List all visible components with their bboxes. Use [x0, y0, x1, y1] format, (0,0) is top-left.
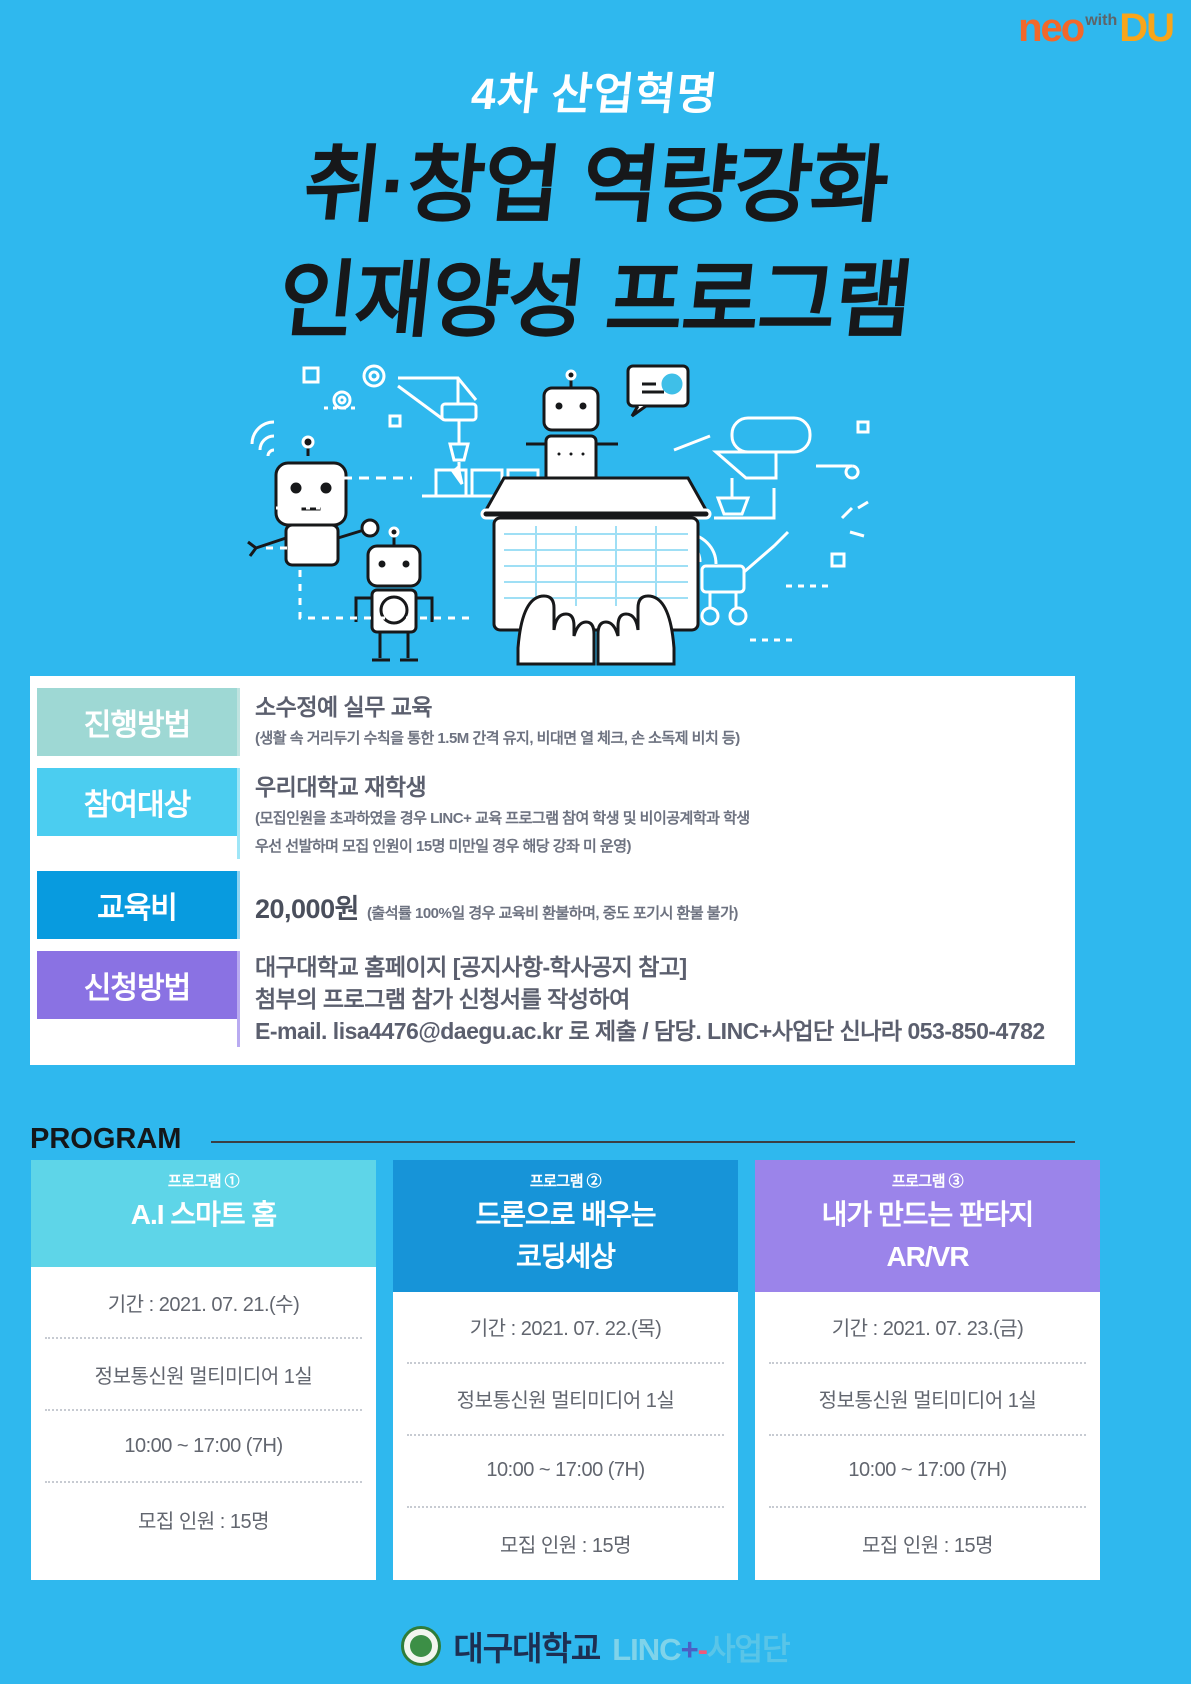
program-card-1-number: 프로그램 ①: [31, 1170, 376, 1191]
program-card-3-capacity: 모집 인원 : 15명: [769, 1508, 1086, 1580]
program-card-2-title-line2: 코딩세상: [393, 1239, 738, 1275]
footer-linc-logo: LINC+-사업단: [612, 1624, 789, 1669]
robot-left-icon: [248, 422, 378, 565]
program-card-3-place: 정보통신원 멀티미디어 1실: [769, 1364, 1086, 1436]
info-value-fee-amount: 20,000원: [255, 887, 359, 926]
info-row-method: 진행방법 소수정예 실무 교육 (생활 속 거리두기 수칙을 통한 1.5M 간…: [30, 688, 1075, 756]
university-seal-icon: [401, 1626, 441, 1666]
info-label-audience: 참여대상: [37, 768, 237, 836]
program-card-2-time: 10:00 ~ 17:00 (7H): [407, 1436, 724, 1508]
program-card-3-number: 프로그램 ③: [755, 1170, 1100, 1191]
program-card-1-capacity: 모집 인원 : 15명: [45, 1483, 362, 1555]
info-label-method: 진행방법: [37, 688, 237, 756]
program-section-title: PROGRAM: [30, 1123, 181, 1156]
info-value-apply-2: 첨부의 프로그램 참가 신청서를 작성하여: [255, 983, 1075, 1015]
program-card-1[interactable]: 프로그램 ① A.I 스마트 홈 기간 : 2021. 07. 21.(수) 정…: [31, 1160, 376, 1580]
brand-neo-text: neo: [1018, 10, 1083, 46]
info-note-method: (생활 속 거리두기 수칙을 통한 1.5M 간격 유지, 비대면 열 체크, …: [255, 727, 1075, 750]
info-note-audience-1: (모집인원을 초과하였을 경우 LINC+ 교육 프로그램 참여 학생 및 비이…: [255, 807, 1075, 830]
robotic-arm-icon: [398, 378, 476, 484]
program-card-3-header: 프로그램 ③ 내가 만드는 판타지 AR/VR: [755, 1160, 1100, 1292]
footer-linc-part-1: LINC: [612, 1632, 680, 1667]
headline-eyebrow: 4차 산업혁명: [469, 58, 722, 122]
info-row-audience: 참여대상 우리대학교 재학생 (모집인원을 초과하였을 경우 LINC+ 교육 …: [30, 768, 1075, 859]
laptop-hands-icon: [482, 478, 710, 664]
info-label-fee: 교육비: [37, 871, 237, 939]
program-card-2[interactable]: 프로그램 ② 드론으로 배우는 코딩세상 기간 : 2021. 07. 22.(…: [393, 1160, 738, 1580]
program-card-1-place: 정보통신원 멀티미디어 1실: [45, 1339, 362, 1411]
program-section-header: PROGRAM: [30, 1123, 1075, 1156]
program-card-3-period: 기간 : 2021. 07. 23.(금): [769, 1292, 1086, 1364]
footer-logos: 대구대학교 LINC+-사업단: [0, 1622, 1191, 1670]
info-label-apply: 신청방법: [37, 951, 237, 1019]
program-card-2-period: 기간 : 2021. 07. 22.(목): [407, 1292, 724, 1364]
program-card-3-title: 내가 만드는 판타지: [755, 1197, 1100, 1233]
info-note-fee: (출석률 100%일 경우 교육비 환불하며, 중도 포기시 환불 불가): [367, 902, 738, 923]
program-card-3-time: 10:00 ~ 17:00 (7H): [769, 1436, 1086, 1508]
info-value-apply-3: E-mail. lisa4476@daegu.ac.kr 로 제출 / 담당. …: [255, 1015, 1075, 1047]
info-row-fee: 교육비 20,000원 (출석률 100%일 경우 교육비 환불하며, 중도 포…: [30, 871, 1075, 939]
info-value-method: 소수정예 실무 교육: [255, 688, 1075, 722]
info-value-apply-1: 대구대학교 홈페이지 [공지사항-학사공지 참고]: [255, 951, 1075, 983]
program-header-divider: [211, 1141, 1075, 1143]
brand-logo: neo with DU: [1018, 10, 1173, 46]
program-card-2-place: 정보통신원 멀티미디어 1실: [407, 1364, 724, 1436]
program-card-list: 프로그램 ① A.I 스마트 홈 기간 : 2021. 07. 21.(수) 정…: [31, 1160, 1160, 1580]
footer-university-name: 대구대학교: [453, 1622, 600, 1670]
robot-center-icon: [356, 528, 432, 660]
footer-linc-part-4: 사업단: [707, 1632, 790, 1667]
program-card-3-title-line2: AR/VR: [755, 1239, 1100, 1275]
footer-linc-part-3: -: [698, 1632, 707, 1667]
brand-with-text: with: [1085, 12, 1117, 30]
info-note-audience-2: 우선 선발하며 모집 인원이 15명 미만일 경우 해당 강좌 미 운영): [255, 835, 1075, 858]
headline-line-1: 취·창업 역량강화: [299, 136, 893, 235]
footer-linc-part-2: +: [681, 1632, 698, 1667]
program-card-1-time: 10:00 ~ 17:00 (7H): [45, 1411, 362, 1483]
program-card-2-title: 드론으로 배우는: [393, 1197, 738, 1233]
program-card-3[interactable]: 프로그램 ③ 내가 만드는 판타지 AR/VR 기간 : 2021. 07. 2…: [755, 1160, 1100, 1580]
info-table: 진행방법 소수정예 실무 교육 (생활 속 거리두기 수칙을 통한 1.5M 간…: [30, 676, 1075, 1065]
info-value-audience: 우리대학교 재학생: [255, 768, 1075, 802]
headline-line-2: 인재양성 프로그램: [274, 251, 917, 350]
program-card-2-header: 프로그램 ② 드론으로 배우는 코딩세상: [393, 1160, 738, 1292]
program-card-2-capacity: 모집 인원 : 15명: [407, 1508, 724, 1580]
info-row-apply: 신청방법 대구대학교 홈페이지 [공지사항-학사공지 참고] 첨부의 프로그램 …: [30, 951, 1075, 1048]
program-card-1-header: 프로그램 ① A.I 스마트 홈: [31, 1160, 376, 1267]
program-card-2-number: 프로그램 ②: [393, 1170, 738, 1191]
robot-automation-illustration: [0, 358, 1191, 678]
brand-du-text: DU: [1119, 10, 1173, 46]
program-card-1-title: A.I 스마트 홈: [31, 1197, 376, 1233]
program-card-1-period: 기간 : 2021. 07. 21.(수): [45, 1267, 362, 1339]
poster-headline: 4차 산업혁명 취·창업 역량강화 인재양성 프로그램: [0, 0, 1191, 350]
